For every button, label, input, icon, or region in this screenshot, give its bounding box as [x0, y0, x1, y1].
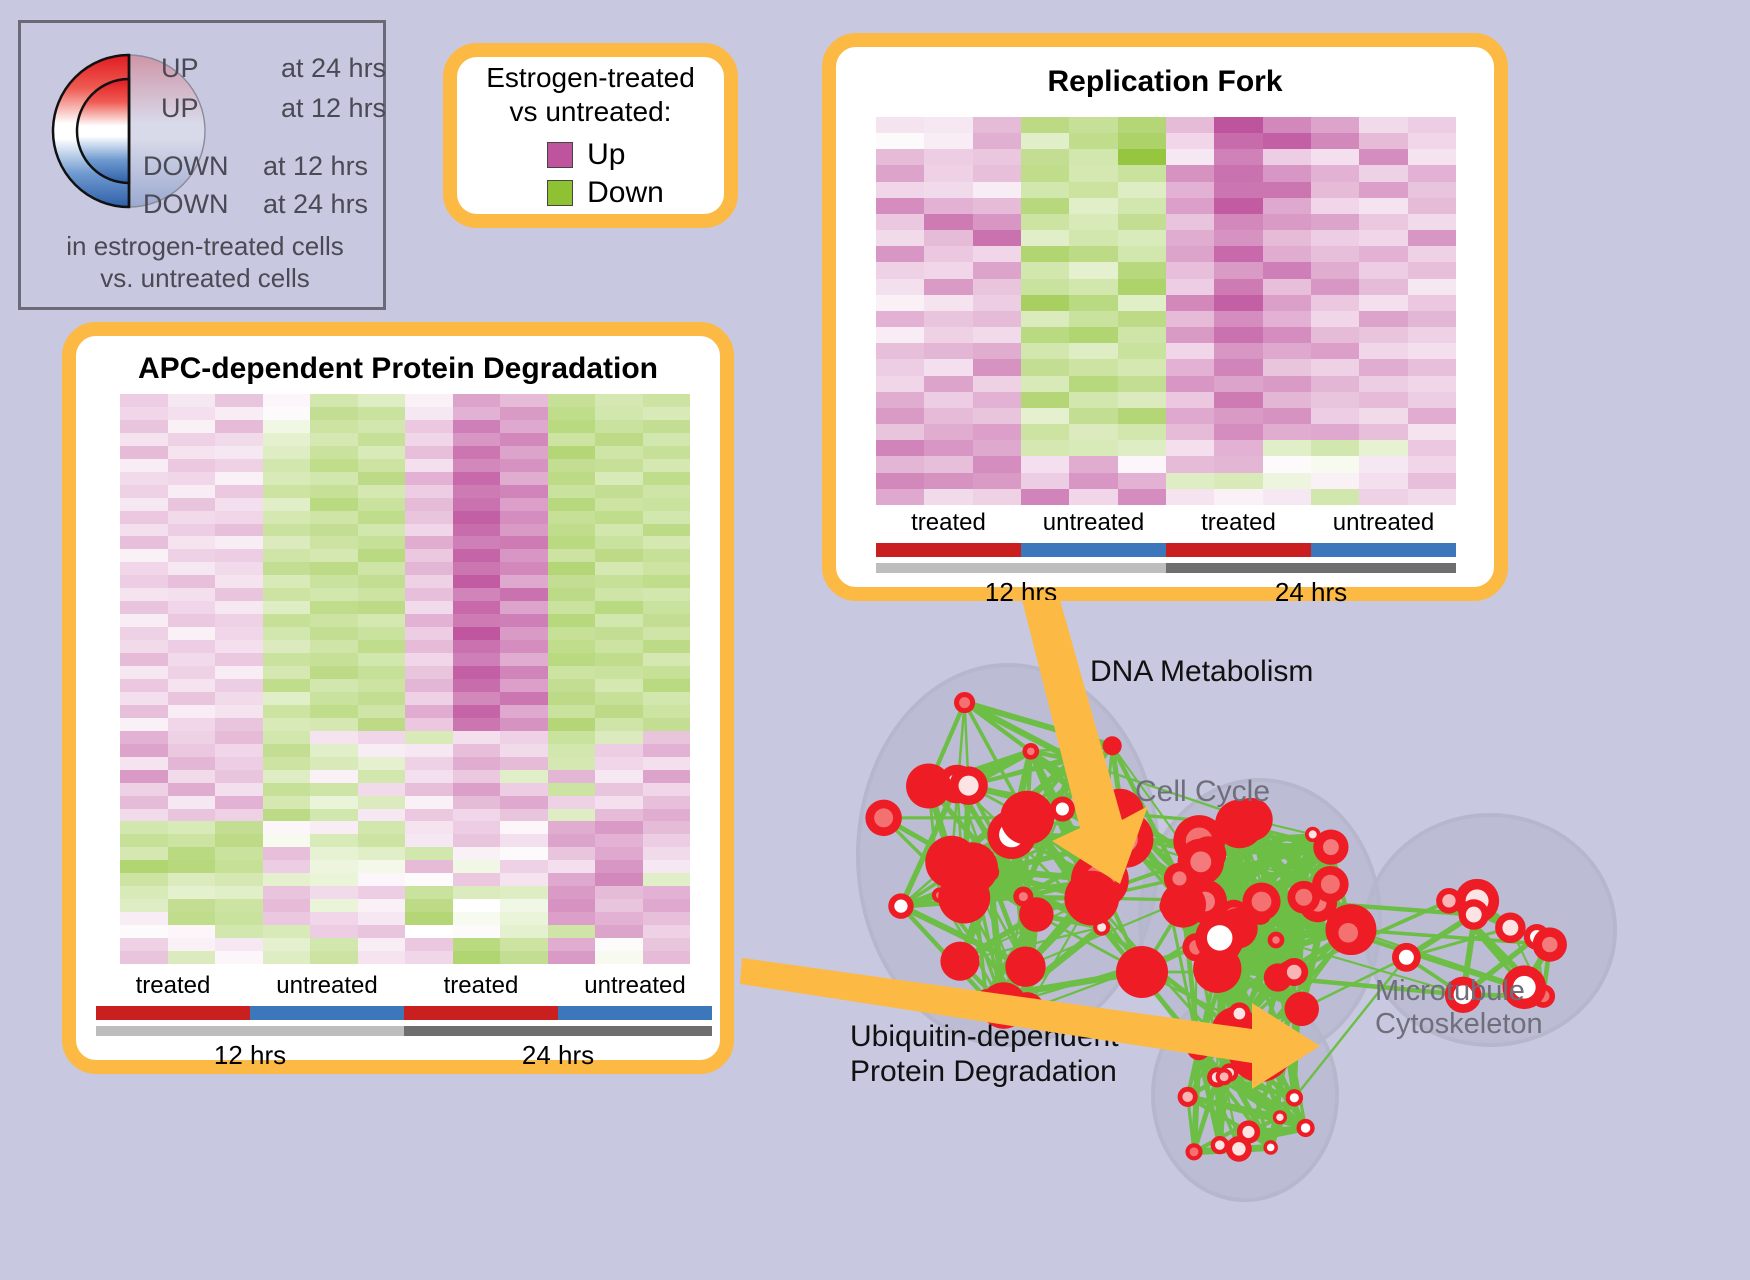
heatmap-cell: [1214, 214, 1262, 230]
heatmap-cell: [643, 498, 691, 511]
heatmap-cell: [1214, 489, 1262, 505]
heatmap-cell: [168, 873, 216, 886]
heatmap-cell: [1166, 424, 1214, 440]
heatmap-cell: [215, 912, 263, 925]
heatmap-cell: [1118, 424, 1166, 440]
heatmap-cell: [1166, 440, 1214, 456]
heatmap-cell: [405, 666, 453, 679]
key-term-2: DOWN: [143, 151, 263, 182]
heatmap-cell: [1214, 262, 1262, 278]
network-node[interactable]: [1116, 946, 1168, 998]
heatmap-cell: [358, 666, 406, 679]
heatmap-cell: [500, 692, 548, 705]
heatmap-cell: [595, 770, 643, 783]
heatmap-cell: [1021, 214, 1069, 230]
heatmap-cell: [548, 640, 596, 653]
key-term-3: DOWN: [143, 189, 263, 220]
heatmap-cell: [453, 511, 501, 524]
heatmap-cell: [500, 536, 548, 549]
replication-fork-time-labels: 12 hrs24 hrs: [876, 577, 1456, 609]
heatmap-cell: [310, 886, 358, 899]
heatmap-cell: [453, 640, 501, 653]
heatmap-cell: [1263, 473, 1311, 489]
heatmap-cell: [500, 420, 548, 433]
heatmap-cell: [924, 376, 972, 392]
heatmap-cell: [215, 770, 263, 783]
heatmap-cell: [1408, 424, 1456, 440]
heatmap-cell: [215, 614, 263, 627]
heatmap-cell: [1408, 133, 1456, 149]
heatmap-cell: [215, 666, 263, 679]
heatmap-cell: [1021, 133, 1069, 149]
heatmap-cell: [643, 653, 691, 666]
heatmap-cell: [1263, 327, 1311, 343]
heatmap-cell: [215, 536, 263, 549]
heatmap-cell: [120, 562, 168, 575]
heatmap-cell: [1118, 246, 1166, 262]
heatmap-cell: [1263, 392, 1311, 408]
heatmap-cell: [500, 679, 548, 692]
heatmap-cell: [876, 440, 924, 456]
heatmap-cell: [924, 230, 972, 246]
network-node-core: [1287, 965, 1302, 980]
heatmap-cell: [453, 718, 501, 731]
heatmap-cell: [215, 562, 263, 575]
heatmap-cell: [876, 165, 924, 181]
heatmap-cell: [405, 472, 453, 485]
heatmap-cell: [168, 446, 216, 459]
heatmap-cell: [924, 327, 972, 343]
heatmap-cell: [120, 394, 168, 407]
heatmap-cell: [1359, 456, 1407, 472]
heatmap-cell: [1359, 311, 1407, 327]
heatmap-cell: [1408, 117, 1456, 133]
heatmap-cell: [310, 757, 358, 770]
heatmap-cell: [548, 847, 596, 860]
heatmap-cell: [1166, 295, 1214, 311]
figure-stage: UP at 24 hrs UP at 12 hrs DOWN at 12 hrs…: [0, 0, 1750, 1279]
heatmap-cell: [500, 951, 548, 964]
heatmap-cell: [595, 640, 643, 653]
heatmap-cell: [595, 420, 643, 433]
heatmap-cell: [973, 311, 1021, 327]
heatmap-cell: [405, 899, 453, 912]
network-node-core: [894, 900, 907, 913]
network-node[interactable]: [1103, 736, 1122, 755]
heatmap-cell: [595, 692, 643, 705]
heatmap-cell: [973, 424, 1021, 440]
heatmap-cell: [643, 809, 691, 822]
heatmap-cell: [973, 295, 1021, 311]
heatmap-cell: [643, 731, 691, 744]
network-node-core: [1290, 1093, 1299, 1102]
network-node-core: [1323, 839, 1339, 855]
heatmap-cell: [1021, 262, 1069, 278]
heatmap-cell: [1359, 279, 1407, 295]
legend-panel: Estrogen-treated vs untreated: Up Down: [443, 43, 738, 228]
heatmap-cell: [168, 394, 216, 407]
heatmap-cell: [924, 456, 972, 472]
heatmap-cell: [1118, 133, 1166, 149]
heatmap-cell: [1118, 359, 1166, 375]
timepoint-bar-segment: [876, 563, 1166, 573]
heatmap-cell: [405, 705, 453, 718]
heatmap-cell: [1069, 182, 1117, 198]
heatmap-cell: [1069, 440, 1117, 456]
heatmap-cell: [358, 407, 406, 420]
heatmap-cell: [500, 912, 548, 925]
heatmap-cell: [595, 459, 643, 472]
key-term-1: UP: [161, 93, 281, 124]
heatmap-cell: [1166, 456, 1214, 472]
heatmap-cell: [643, 925, 691, 938]
heatmap-cell: [168, 705, 216, 718]
heatmap-cell: [924, 343, 972, 359]
heatmap-cell: [643, 446, 691, 459]
heatmap-cell: [168, 860, 216, 873]
heatmap-cell: [453, 731, 501, 744]
heatmap-cell: [548, 809, 596, 822]
heatmap-cell: [168, 614, 216, 627]
heatmap-cell: [1311, 359, 1359, 375]
cluster-label-microtubule-cytoskeleton: Microtubule Cytoskeleton: [1375, 975, 1543, 1042]
heatmap-cell: [1166, 473, 1214, 489]
heatmap-cell: [595, 653, 643, 666]
heatmap-cell: [263, 847, 311, 860]
legend-item-up: Up: [547, 138, 664, 172]
heatmap-cell: [548, 783, 596, 796]
heatmap-cell: [595, 860, 643, 873]
heatmap-cell: [973, 359, 1021, 375]
heatmap-cell: [358, 925, 406, 938]
heatmap-cell: [310, 524, 358, 537]
heatmap-cell: [1359, 149, 1407, 165]
network-node[interactable]: [1228, 820, 1248, 840]
heatmap-cell: [1069, 456, 1117, 472]
heatmap-cell: [310, 433, 358, 446]
heatmap-cell: [643, 666, 691, 679]
heatmap-cell: [643, 847, 691, 860]
heatmap-cell: [1166, 165, 1214, 181]
network-node[interactable]: [906, 763, 951, 808]
heatmap-cell: [973, 440, 1021, 456]
heatmap-cell: [643, 511, 691, 524]
heatmap-cell: [453, 886, 501, 899]
heatmap-cell: [1263, 230, 1311, 246]
heatmap-cell: [876, 473, 924, 489]
heatmap-cell: [924, 246, 972, 262]
heatmap-cell: [405, 562, 453, 575]
down-swatch-icon: [547, 180, 573, 206]
heatmap-cell: [358, 757, 406, 770]
heatmap-cell: [973, 408, 1021, 424]
network-node[interactable]: [1228, 1018, 1292, 1082]
heatmap-cell: [120, 873, 168, 886]
heatmap-cell: [168, 770, 216, 783]
heatmap-cell: [358, 549, 406, 562]
heatmap-cell: [643, 783, 691, 796]
heatmap-cell: [548, 459, 596, 472]
heatmap-cell: [1263, 424, 1311, 440]
heatmap-cell: [1311, 214, 1359, 230]
heatmap-cell: [120, 459, 168, 472]
heatmap-cell: [120, 692, 168, 705]
heatmap-cell: [548, 912, 596, 925]
heatmap-cell: [548, 536, 596, 549]
heatmap-cell: [1214, 149, 1262, 165]
network-node[interactable]: [938, 871, 990, 923]
heatmap-cell: [643, 938, 691, 951]
key-time-0: at 24 hrs: [281, 53, 386, 84]
heatmap-cell: [1166, 262, 1214, 278]
heatmap-cell: [643, 912, 691, 925]
heatmap-cell: [310, 498, 358, 511]
heatmap-cell: [924, 214, 972, 230]
network-node-core: [1056, 803, 1069, 816]
heatmap-cell: [548, 420, 596, 433]
heatmap-cell: [924, 149, 972, 165]
heatmap-cell: [310, 912, 358, 925]
heatmap-cell: [1069, 424, 1117, 440]
heatmap-cell: [643, 549, 691, 562]
heatmap-cell: [548, 860, 596, 873]
heatmap-cell: [548, 472, 596, 485]
heatmap-cell: [876, 262, 924, 278]
legend-title: Estrogen-treated vs untreated:: [486, 61, 695, 127]
heatmap-cell: [1166, 214, 1214, 230]
network-node[interactable]: [1019, 897, 1054, 932]
heatmap-cell: [924, 392, 972, 408]
heatmap-cell: [405, 549, 453, 562]
heatmap-cell: [1021, 424, 1069, 440]
heatmap-cell: [1069, 489, 1117, 505]
heatmap-cell: [876, 359, 924, 375]
heatmap-cell: [358, 679, 406, 692]
heatmap-cell: [358, 860, 406, 873]
heatmap-cell: [310, 407, 358, 420]
network-node-core: [1172, 871, 1186, 885]
network-node-core: [1338, 923, 1358, 943]
heatmap-cell: [1166, 230, 1214, 246]
heatmap-cell: [876, 214, 924, 230]
heatmap-cell: [1118, 182, 1166, 198]
heatmap-cell: [1021, 456, 1069, 472]
heatmap-cell: [924, 133, 972, 149]
network-node-core: [1295, 889, 1312, 906]
heatmap-cell: [1311, 117, 1359, 133]
network-node[interactable]: [1005, 946, 1045, 986]
heatmap-cell: [1408, 182, 1456, 198]
heatmap-cell: [263, 731, 311, 744]
network-node[interactable]: [1000, 791, 1054, 845]
network-node-core: [1220, 1072, 1229, 1081]
heatmap-cell: [168, 653, 216, 666]
heatmap-cell: [453, 938, 501, 951]
heatmap-cell: [120, 601, 168, 614]
heatmap-cell: [548, 627, 596, 640]
heatmap-cell: [1021, 149, 1069, 165]
heatmap-cell: [120, 886, 168, 899]
heatmap-cell: [1118, 489, 1166, 505]
heatmap-cell: [924, 473, 972, 489]
network-node-core: [1542, 937, 1557, 952]
heatmap-cell: [595, 601, 643, 614]
heatmap-cell: [168, 821, 216, 834]
heatmap-cell: [1166, 343, 1214, 359]
network-node[interactable]: [940, 942, 979, 981]
heatmap-cell: [310, 860, 358, 873]
heatmap-cell: [1118, 198, 1166, 214]
heatmap-cell: [548, 407, 596, 420]
heatmap-cell: [924, 311, 972, 327]
heatmap-cell: [310, 575, 358, 588]
heatmap-cell: [1311, 295, 1359, 311]
heatmap-cell: [453, 627, 501, 640]
heatmap-cell: [310, 666, 358, 679]
heatmap-cell: [1021, 327, 1069, 343]
cluster-label-dna-metabolism: DNA Metabolism: [1090, 655, 1313, 690]
heatmap-cell: [1021, 198, 1069, 214]
heatmap-cell: [168, 951, 216, 964]
heatmap-cell: [548, 666, 596, 679]
heatmap-cell: [168, 938, 216, 951]
heatmap-cell: [453, 536, 501, 549]
heatmap-cell: [924, 165, 972, 181]
heatmap-cell: [215, 640, 263, 653]
heatmap-cell: [358, 796, 406, 809]
network-node[interactable]: [1285, 992, 1319, 1026]
heatmap-cell: [215, 899, 263, 912]
time-label: 12 hrs: [96, 1040, 404, 1072]
heatmap-cell: [263, 575, 311, 588]
heatmap-cell: [1118, 376, 1166, 392]
network-node-core: [1077, 784, 1083, 790]
heatmap-cell: [453, 394, 501, 407]
heatmap-cell: [215, 938, 263, 951]
heatmap-cell: [358, 938, 406, 951]
heatmap-cell: [1118, 392, 1166, 408]
heatmap-cell: [453, 809, 501, 822]
heatmap-cell: [643, 536, 691, 549]
heatmap-cell: [120, 679, 168, 692]
heatmap-cell: [1263, 359, 1311, 375]
heatmap-cell: [1021, 246, 1069, 262]
heatmap-cell: [1069, 149, 1117, 165]
heatmap-cell: [1263, 295, 1311, 311]
heatmap-cell: [643, 796, 691, 809]
heatmap-cell: [548, 705, 596, 718]
heatmap-cell: [924, 117, 972, 133]
heatmap-cell: [973, 230, 1021, 246]
heatmap-cell: [500, 446, 548, 459]
heatmap-cell: [500, 524, 548, 537]
replication-fork-treatment-bar: [876, 543, 1456, 557]
heatmap-cell: [643, 860, 691, 873]
heatmap-cell: [500, 899, 548, 912]
heatmap-cell: [263, 407, 311, 420]
heatmap-cell: [1408, 359, 1456, 375]
heatmap-cell: [263, 588, 311, 601]
heatmap-cell: [1408, 198, 1456, 214]
heatmap-cell: [548, 498, 596, 511]
heatmap-cell: [1408, 376, 1456, 392]
heatmap-cell: [500, 459, 548, 472]
network-node[interactable]: [1066, 752, 1082, 768]
heatmap-cell: [1021, 473, 1069, 489]
heatmap-cell: [310, 925, 358, 938]
heatmap-cell: [1311, 343, 1359, 359]
heatmap-cell: [405, 640, 453, 653]
heatmap-cell: [1069, 359, 1117, 375]
heatmap-cell: [1359, 133, 1407, 149]
heatmap-cell: [405, 575, 453, 588]
heatmap-cell: [924, 198, 972, 214]
heatmap-cell: [358, 809, 406, 822]
network-node[interactable]: [1064, 871, 1119, 926]
heatmap-cell: [595, 679, 643, 692]
heatmap-cell: [1069, 327, 1117, 343]
apc-heatmap: [120, 394, 690, 964]
network-node-core: [982, 993, 991, 1002]
heatmap-cell: [215, 705, 263, 718]
heatmap-cell: [453, 407, 501, 420]
heatmap-cell: [548, 899, 596, 912]
heatmap-cell: [263, 420, 311, 433]
heatmap-cell: [120, 731, 168, 744]
heatmap-cell: [1118, 149, 1166, 165]
heatmap-cell: [643, 601, 691, 614]
heatmap-cell: [595, 873, 643, 886]
heatmap-cell: [595, 472, 643, 485]
heatmap-cell: [405, 459, 453, 472]
heatmap-cell: [1166, 489, 1214, 505]
network-node-core: [959, 697, 970, 708]
heatmap-cell: [405, 627, 453, 640]
heatmap-cell: [405, 524, 453, 537]
heatmap-cell: [1166, 392, 1214, 408]
heatmap-cell: [1214, 295, 1262, 311]
heatmap-cell: [1408, 230, 1456, 246]
heatmap-cell: [310, 718, 358, 731]
heatmap-cell: [310, 705, 358, 718]
heatmap-cell: [263, 873, 311, 886]
heatmap-cell: [405, 834, 453, 847]
heatmap-cell: [405, 860, 453, 873]
heatmap-cell: [500, 847, 548, 860]
heatmap-cell: [876, 456, 924, 472]
heatmap-cell: [1166, 149, 1214, 165]
heatmap-cell: [120, 653, 168, 666]
heatmap-cell: [358, 886, 406, 899]
heatmap-cell: [310, 770, 358, 783]
colour-key-box: UP at 24 hrs UP at 12 hrs DOWN at 12 hrs…: [18, 20, 386, 310]
heatmap-cell: [1311, 489, 1359, 505]
heatmap-cell: [215, 498, 263, 511]
heatmap-cell: [120, 951, 168, 964]
heatmap-cell: [1408, 440, 1456, 456]
caption-line-2: vs. untreated cells: [21, 263, 389, 295]
heatmap-cell: [1214, 327, 1262, 343]
network-node-core: [874, 808, 893, 827]
heatmap-cell: [358, 653, 406, 666]
heatmap-cell: [168, 524, 216, 537]
heatmap-cell: [1263, 165, 1311, 181]
heatmap-cell: [876, 133, 924, 149]
heatmap-cell: [1311, 440, 1359, 456]
heatmap-cell: [215, 809, 263, 822]
heatmap-cell: [263, 886, 311, 899]
heatmap-cell: [168, 731, 216, 744]
